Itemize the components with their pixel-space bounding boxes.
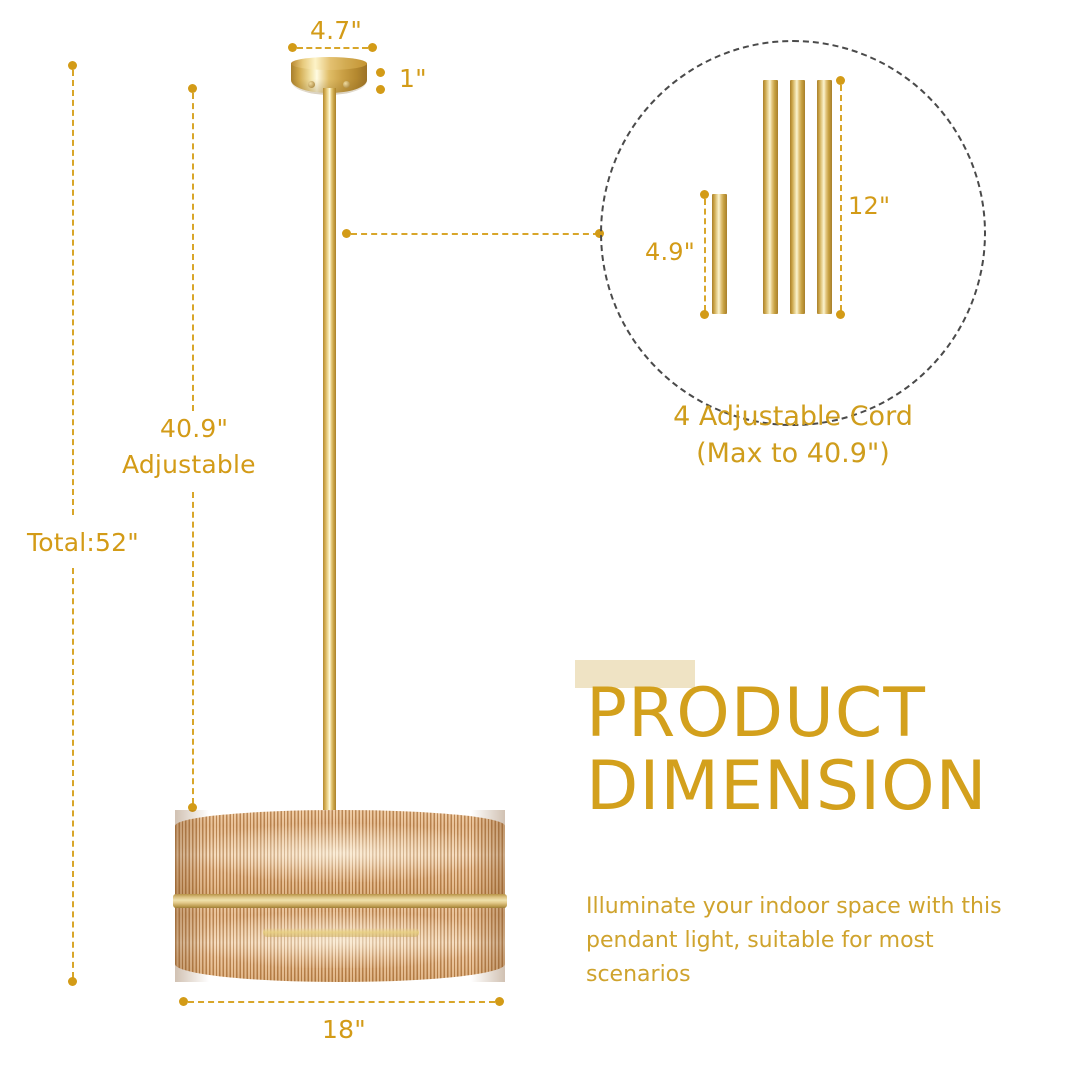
shade-width-left-dot (179, 997, 188, 1006)
callout-start-dot (342, 229, 351, 238)
short-rod-dim-line (704, 199, 706, 311)
canopy-width-line (297, 47, 368, 49)
shade-interior-bar (263, 928, 419, 937)
cord-detail-caption: 4 Adjustable Cord (Max to 40.9") (583, 398, 1003, 473)
canopy-height-top-dot (376, 68, 385, 77)
cord-rod-short (712, 194, 727, 314)
canopy-top-disc (291, 57, 367, 70)
shade-width-label: 18" (322, 1015, 366, 1044)
product-description: Illuminate your indoor space with this p… (586, 890, 1026, 992)
shade-width-right-dot (495, 997, 504, 1006)
shade-upper-weave (175, 810, 505, 896)
short-rod-bottom-dot (700, 310, 709, 319)
canopy-height-bottom-dot (376, 85, 385, 94)
adjustable-dim-line-upper (192, 93, 194, 411)
total-dim-line-lower (72, 568, 74, 978)
total-dim-bottom-dot (68, 977, 77, 986)
adjustable-dim-word: Adjustable (122, 450, 256, 479)
long-rod-dim-line (840, 85, 842, 311)
rattan-shade (175, 810, 505, 982)
short-rod-label: 4.9" (645, 238, 695, 266)
long-rod-label: 12" (848, 192, 890, 220)
total-dim-line-upper (72, 70, 74, 515)
canopy-height-label: 1" (399, 64, 427, 93)
canopy-screw-left (308, 81, 315, 88)
canopy-width-left-dot (288, 43, 297, 52)
total-dim-top-dot (68, 61, 77, 70)
canopy-screw-right (343, 81, 350, 88)
long-rod-bottom-dot (836, 310, 845, 319)
long-rod-top-dot (836, 76, 845, 85)
down-rod (323, 88, 336, 810)
cord-rod-long-2 (790, 80, 805, 314)
product-dimension-diagram: Total:52" 40.9" Adjustable 4.7" 1" 4.9" … (0, 0, 1080, 1080)
canopy-width-label: 4.7" (310, 16, 362, 45)
cord-rod-long-3 (817, 80, 832, 314)
cord-rod-long-1 (763, 80, 778, 314)
adjustable-dim-line-lower (192, 492, 194, 804)
title-line-1: PRODUCT (586, 677, 926, 750)
callout-line (351, 233, 599, 235)
adjustable-dim-top-dot (188, 84, 197, 93)
adjustable-dim-value: 40.9" (160, 414, 228, 443)
total-dim-label: Total:52" (27, 528, 139, 557)
canopy-width-right-dot (368, 43, 377, 52)
shade-brass-band (173, 894, 507, 908)
title-line-2: DIMENSION (586, 750, 988, 823)
short-rod-top-dot (700, 190, 709, 199)
shade-width-line (188, 1001, 495, 1003)
shade-lower-weave (175, 900, 505, 982)
